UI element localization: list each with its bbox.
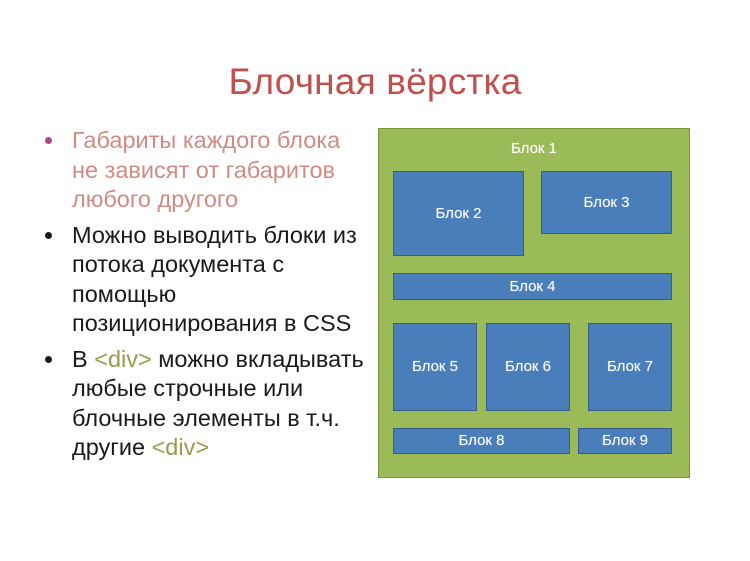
presentation-slide: Блочная вёрстка Габариты каждого блока н… bbox=[0, 0, 750, 561]
list-item: Можно выводить блоки из потока документа… bbox=[34, 221, 364, 339]
block-6: Блок 6 bbox=[486, 323, 570, 411]
block-1-label: Блок 1 bbox=[379, 140, 689, 158]
bullet-dot-icon bbox=[45, 356, 52, 363]
page-title: Блочная вёрстка bbox=[0, 59, 750, 105]
block-9: Блок 9 bbox=[578, 428, 672, 454]
block-layout-diagram: Блок 1 Блок 2 Блок 3 Блок 4 Блок 5 Блок … bbox=[378, 128, 690, 478]
block-7: Блок 7 bbox=[588, 323, 672, 411]
bullet-list: Габариты каждого блока не зависят от габ… bbox=[34, 126, 364, 469]
bullet-text-part-1: В bbox=[72, 346, 94, 372]
block-8: Блок 8 bbox=[393, 428, 570, 454]
list-item: Габариты каждого блока не зависят от габ… bbox=[34, 126, 364, 215]
block-5: Блок 5 bbox=[393, 323, 477, 411]
block-2: Блок 2 bbox=[393, 171, 524, 256]
block-3: Блок 3 bbox=[541, 171, 672, 234]
block-4: Блок 4 bbox=[393, 273, 672, 300]
list-item: В <div> можно вкладывать любые строчные … bbox=[34, 345, 364, 463]
bullet-dot-icon bbox=[45, 137, 52, 144]
div-tag-code-2: <div> bbox=[152, 434, 210, 460]
bullet-dot-icon bbox=[45, 232, 52, 239]
bullet-text: Можно выводить блоки из потока документа… bbox=[72, 222, 357, 337]
bullet-text: Габариты каждого блока не зависят от габ… bbox=[72, 127, 340, 212]
div-tag-code-1: <div> bbox=[94, 346, 152, 372]
